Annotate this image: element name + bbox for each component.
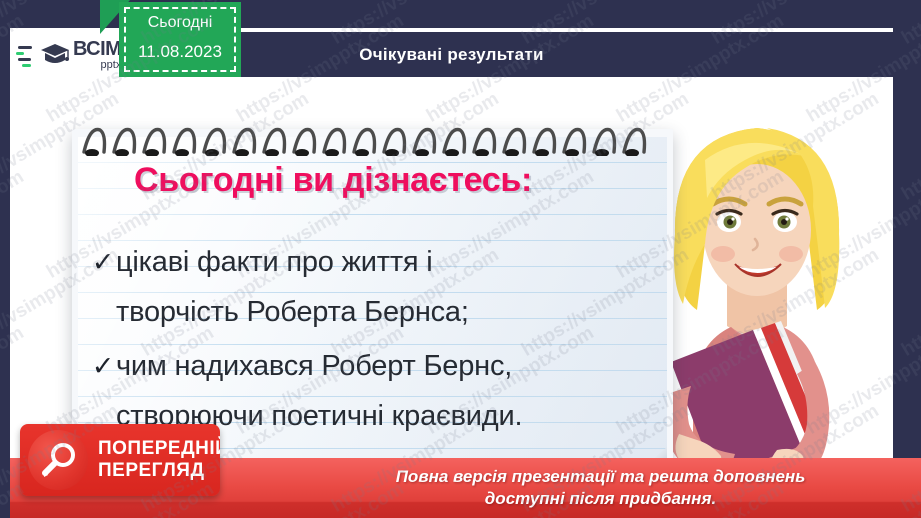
slide-root: Сьогодні ви дізнаєтесь: ✓ цікаві факти п… bbox=[0, 0, 921, 518]
date-badge-label: Сьогодні bbox=[123, 8, 237, 38]
list-item-text: цікаві факти про життя і творчість Робер… bbox=[116, 237, 469, 337]
magnifier-icon bbox=[28, 430, 88, 490]
purchase-banner-line2: доступні після придбання. bbox=[396, 488, 806, 510]
list-item-line: чим надихався Роберт Бернс, bbox=[116, 341, 522, 391]
notebook-title: Сьогодні ви дізнаєтесь: bbox=[134, 161, 532, 200]
list-item: ✓ цікаві факти про життя і творчість Роб… bbox=[90, 237, 665, 337]
brand-logo[interactable]: ВСІМ pptx bbox=[10, 32, 120, 77]
page-title: Очікувані результати bbox=[359, 45, 544, 65]
checkmark-icon: ✓ bbox=[90, 237, 116, 287]
logo-brand: ВСІМ bbox=[73, 39, 121, 59]
date-badge-date: 11.08.2023 bbox=[123, 38, 237, 66]
date-badge: Сьогодні 11.08.2023 bbox=[119, 2, 241, 77]
preview-badge-label: ПОПЕРЕДНІЙ ПЕРЕГЛЯД bbox=[98, 438, 220, 482]
speed-lines-icon bbox=[16, 41, 42, 69]
purchase-banner-line1: Повна версія презентації та решта доповн… bbox=[396, 466, 806, 488]
logo-text: ВСІМ pptx bbox=[73, 39, 121, 71]
preview-badge-line1: ПОПЕРЕДНІЙ bbox=[98, 438, 220, 460]
frame-right-bar bbox=[893, 0, 921, 518]
purchase-banner-text: Повна версія презентації та решта доповн… bbox=[396, 466, 806, 510]
logo-suffix: pptx bbox=[73, 60, 121, 71]
illustration-woman-with-books bbox=[649, 94, 865, 494]
list-item-line: цікаві факти про життя і bbox=[116, 237, 469, 287]
list-item-line: творчість Роберта Бернса; bbox=[116, 287, 469, 337]
preview-badge[interactable]: ПОПЕРЕДНІЙ ПЕРЕГЛЯД bbox=[20, 424, 220, 496]
objectives-list: ✓ цікаві факти про життя і творчість Роб… bbox=[90, 237, 665, 445]
preview-badge-line2: ПЕРЕГЛЯД bbox=[98, 460, 220, 482]
graduation-cap-icon bbox=[40, 40, 70, 70]
spiral-binding bbox=[78, 122, 667, 156]
checkmark-icon: ✓ bbox=[90, 341, 116, 391]
frame-left-bar bbox=[0, 0, 10, 518]
